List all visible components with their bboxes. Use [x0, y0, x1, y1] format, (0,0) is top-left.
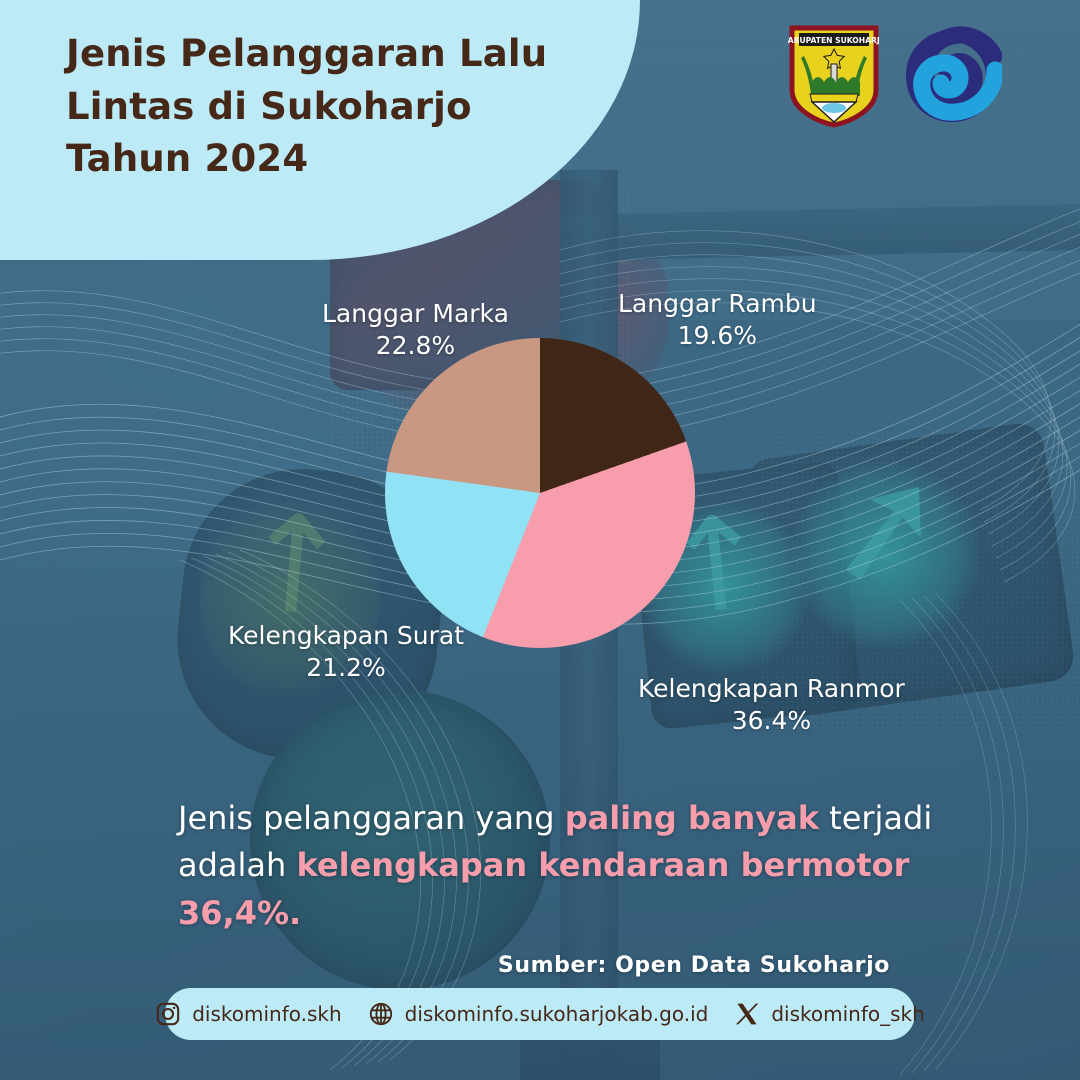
caption-segment-4: . — [289, 894, 301, 932]
social-item-website[interactable]: diskominfo.sukoharjokab.go.id — [368, 1001, 709, 1027]
pie-label-langgar-rambu: Langgar Rambu 19.6% — [618, 288, 817, 352]
pie-chart-slices — [385, 338, 695, 648]
social-item-instagram[interactable]: diskominfo.skh — [155, 1001, 341, 1027]
kominfo-wave-logo — [902, 26, 1002, 126]
pie-label-value: 21.2% — [228, 652, 464, 684]
pie-label-value: 36.4% — [638, 705, 905, 737]
source-label: Sumber: Open Data Sukoharjo — [498, 953, 890, 978]
x-twitter-icon — [734, 1001, 760, 1027]
globe-icon — [368, 1001, 394, 1027]
social-bar: diskominfo.skh diskominfo.sukoharjokab.g… — [165, 988, 915, 1040]
pie-label-kelengkapan-surat: Kelengkapan Surat 21.2% — [228, 620, 464, 684]
caption-highlight-1: paling banyak — [565, 799, 819, 837]
kabupaten-sukoharjo-crest: KABUPATEN SUKOHARJO — [788, 24, 880, 128]
pie-label-langgar-marka: Langgar Marka 22.8% — [322, 298, 509, 362]
svg-text:KABUPATEN SUKOHARJO: KABUPATEN SUKOHARJO — [788, 36, 880, 45]
social-handle-x: diskominfo_skh — [771, 1002, 924, 1026]
social-handle-website: diskominfo.sukoharjokab.go.id — [405, 1002, 709, 1026]
infographic-canvas: ➚ ↑ ↑ — [0, 0, 1080, 1080]
caption-line-2: adalah kelengkapan kendaraan bermotor 36… — [178, 842, 938, 937]
caption-segment-1: Jenis pelanggaran yang — [178, 799, 565, 837]
page-title: Jenis Pelanggaran Lalu Lintas di Sukohar… — [66, 28, 566, 186]
pie-label-name: Kelengkapan Ranmor — [638, 674, 905, 703]
social-item-x[interactable]: diskominfo_skh — [734, 1001, 924, 1027]
pie-chart — [385, 338, 695, 648]
caption-text: Jenis pelanggaran yang paling banyak ter… — [178, 795, 938, 937]
instagram-icon — [155, 1001, 181, 1027]
caption-segment-3: adalah — [178, 846, 296, 884]
title-line-2: Lintas di Sukoharjo — [66, 81, 566, 134]
pie-label-name: Langgar Marka — [322, 299, 509, 328]
pie-label-value: 22.8% — [322, 330, 509, 362]
social-handle-instagram: diskominfo.skh — [192, 1002, 341, 1026]
title-line-1: Jenis Pelanggaran Lalu — [66, 28, 566, 81]
pie-label-name: Kelengkapan Surat — [228, 621, 464, 650]
logo-group: KABUPATEN SUKOHARJO — [788, 24, 1002, 128]
caption-segment-2: terjadi — [819, 799, 932, 837]
pie-label-value: 19.6% — [618, 320, 817, 352]
pie-label-kelengkapan-ranmor: Kelengkapan Ranmor 36.4% — [638, 673, 905, 737]
title-line-3: Tahun 2024 — [66, 133, 566, 186]
pie-label-name: Langgar Rambu — [618, 289, 817, 318]
